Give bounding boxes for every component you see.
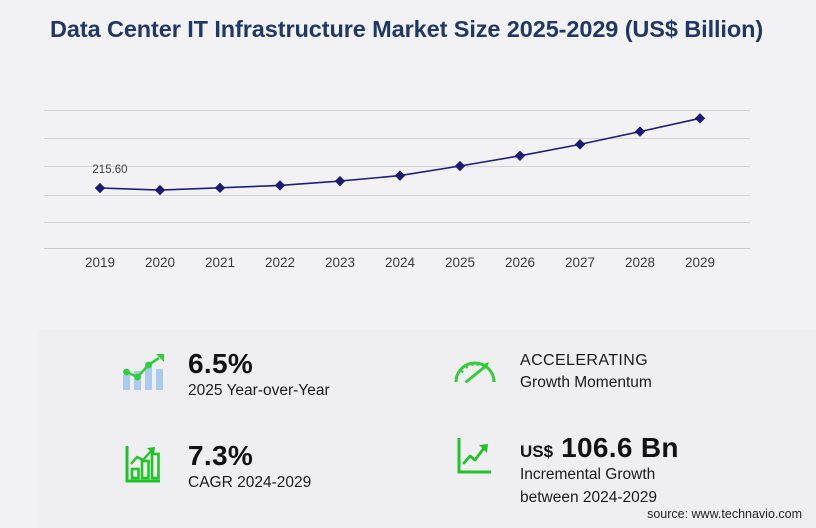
stat-unit: US$ <box>520 442 553 461</box>
x-axis-tick-2020: 2020 <box>145 255 175 270</box>
stat-value: US$ 106.6 Bn <box>520 432 679 463</box>
stat-text: ACCELERATING Growth Momentum <box>520 350 652 394</box>
source-note: source: www.technavio.com <box>647 507 802 521</box>
speedometer-icon <box>448 350 502 401</box>
chart-series-svg <box>44 100 750 252</box>
data-point-marker <box>215 183 225 193</box>
data-point-marker <box>155 185 165 195</box>
stat-text: 7.3% CAGR 2024-2029 <box>188 440 311 494</box>
stat-value: 7.3% <box>188 440 311 471</box>
stat-card-momentum: ACCELERATING Growth Momentum <box>448 350 652 401</box>
data-point-marker <box>395 170 405 180</box>
stat-caption-line2: between 2024-2029 <box>520 488 679 508</box>
stat-caption: 2025 Year-over-Year <box>188 381 330 401</box>
x-axis-tick-2022: 2022 <box>265 255 295 270</box>
x-axis-tick-2029: 2029 <box>685 255 715 270</box>
data-point-marker <box>455 161 465 171</box>
stat-card-incremental-growth: US$ 106.6 Bn Incremental Growth between … <box>448 432 679 508</box>
x-axis-tick-2025: 2025 <box>445 255 475 270</box>
data-point-marker <box>95 183 105 193</box>
data-point-marker <box>515 151 525 161</box>
x-axis-tick-2024: 2024 <box>385 255 415 270</box>
stat-value: 6.5% <box>188 348 330 379</box>
stat-card-yoy: 6.5% 2025 Year-over-Year <box>116 348 330 402</box>
x-axis-tick-2028: 2028 <box>625 255 655 270</box>
infographic-page: Data Center IT Infrastructure Market Siz… <box>0 0 816 528</box>
chart-plot-area: 215.60 <box>44 100 750 252</box>
stat-text: US$ 106.6 Bn Incremental Growth between … <box>520 432 679 508</box>
stat-caption: Growth Momentum <box>520 373 652 393</box>
stat-amount: 106.6 Bn <box>561 432 679 463</box>
stats-panel: 6.5% 2025 Year-over-Year ACCELERAT <box>38 330 816 528</box>
stat-caption: CAGR 2024-2029 <box>188 473 311 493</box>
data-point-marker <box>575 139 585 149</box>
stat-head: ACCELERATING <box>520 350 652 371</box>
x-axis-tick-2026: 2026 <box>505 255 535 270</box>
x-axis-tick-2021: 2021 <box>205 255 235 270</box>
x-axis-tick-2023: 2023 <box>325 255 355 270</box>
x-axis-tick-2027: 2027 <box>565 255 595 270</box>
x-axis-tick-2019: 2019 <box>85 255 115 270</box>
stat-text: 6.5% 2025 Year-over-Year <box>188 348 330 402</box>
stat-caption-line1: Incremental Growth <box>520 465 679 485</box>
x-axis-tick-labels: 2019202020212022202320242025202620272028… <box>44 255 750 277</box>
data-point-marker <box>335 176 345 186</box>
bar-chart-growth-icon <box>116 348 170 396</box>
data-point-marker <box>635 126 645 136</box>
data-point-marker <box>275 180 285 190</box>
trend-line-icon <box>448 432 502 480</box>
bar-chart-arrow-icon <box>116 440 170 488</box>
page-title: Data Center IT Infrastructure Market Siz… <box>50 14 770 44</box>
stat-card-cagr: 7.3% CAGR 2024-2029 <box>116 440 311 494</box>
data-point-marker <box>695 113 705 123</box>
data-point-label: 215.60 <box>92 164 127 176</box>
